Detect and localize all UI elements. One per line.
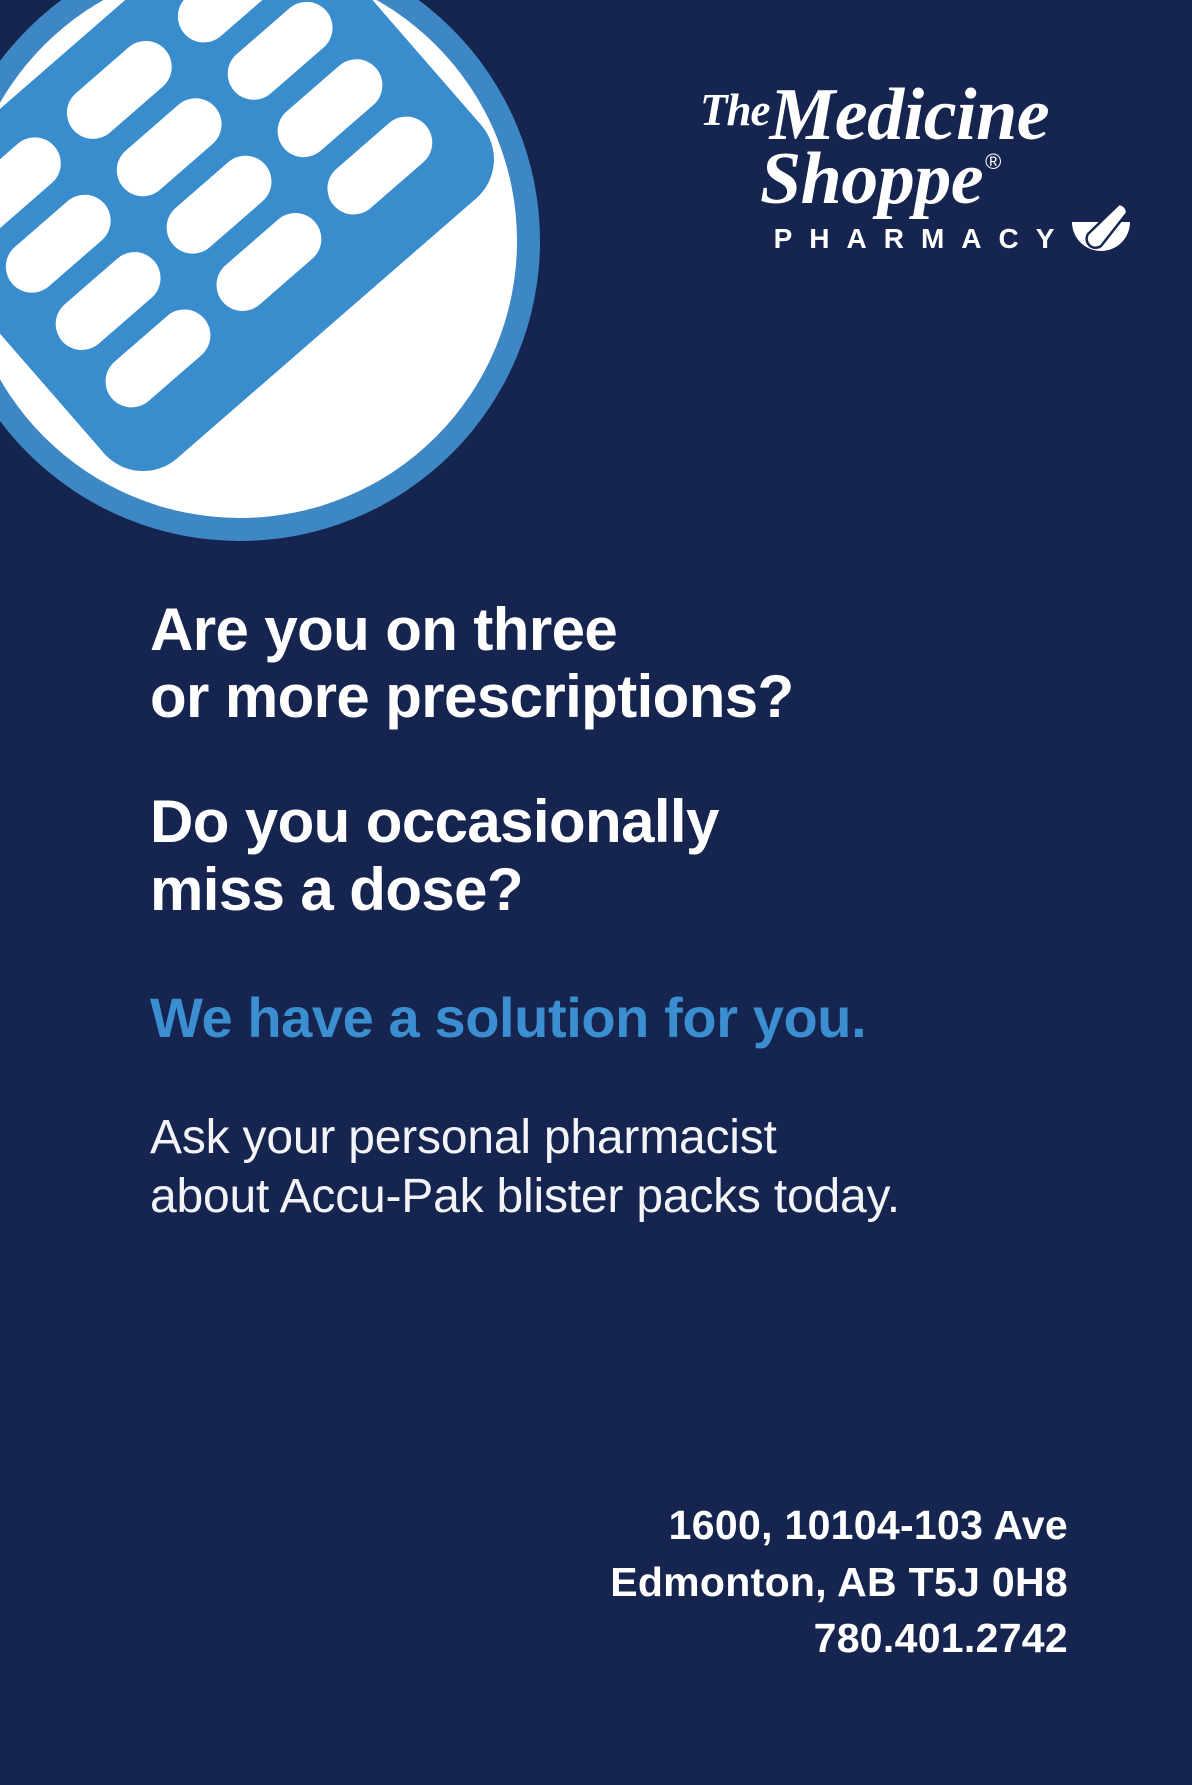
medicine-shoppe-logo: TheMedicine Shoppe® PHARMACY xyxy=(694,84,1134,255)
headline-prescriptions-line-1: Are you on three xyxy=(150,596,1080,663)
logo-line-shoppe: Shoppe® xyxy=(694,148,1134,212)
logo-shoppe: Shoppe xyxy=(760,138,983,220)
body-copy-line-2: about Accu-Pak blister packs today. xyxy=(150,1167,1080,1226)
footer-address-line-1: 1600, 10104-103 Ave xyxy=(610,1497,1068,1554)
body-copy-line-1: Ask your personal pharmacist xyxy=(150,1108,1080,1167)
blister-pack-badge xyxy=(0,0,540,550)
logo-the: The xyxy=(700,85,770,135)
footer-address-line-2: Edmonton, AB T5J 0H8 xyxy=(610,1554,1068,1611)
registered-mark: ® xyxy=(985,149,1001,174)
mortar-and-pestle-icon xyxy=(1070,202,1132,256)
logo-wordmark: TheMedicine Shoppe® xyxy=(694,84,1134,211)
headline-miss-dose: Do you occasionally miss a dose? xyxy=(150,788,1080,922)
body-copy: Ask your personal pharmacist about Accu-… xyxy=(150,1108,1080,1226)
headline-prescriptions: Are you on three or more prescriptions? xyxy=(150,596,1080,730)
poster-root: TheMedicine Shoppe® PHARMACY Are you on … xyxy=(0,0,1192,1785)
accent-solution-line: We have a solution for you. xyxy=(150,987,1080,1049)
headline-prescriptions-line-2: or more prescriptions? xyxy=(150,663,1080,730)
main-content: Are you on three or more prescriptions? … xyxy=(150,596,1080,1226)
footer-phone[interactable]: 780.401.2742 xyxy=(610,1610,1068,1667)
headline-miss-dose-line-1: Do you occasionally xyxy=(150,788,1080,855)
headline-miss-dose-line-2: miss a dose? xyxy=(150,856,1080,923)
badge-circle xyxy=(0,0,540,550)
footer-contact: 1600, 10104-103 Ave Edmonton, AB T5J 0H8… xyxy=(610,1497,1068,1667)
logo-pharmacy-text: PHARMACY xyxy=(694,223,1134,255)
